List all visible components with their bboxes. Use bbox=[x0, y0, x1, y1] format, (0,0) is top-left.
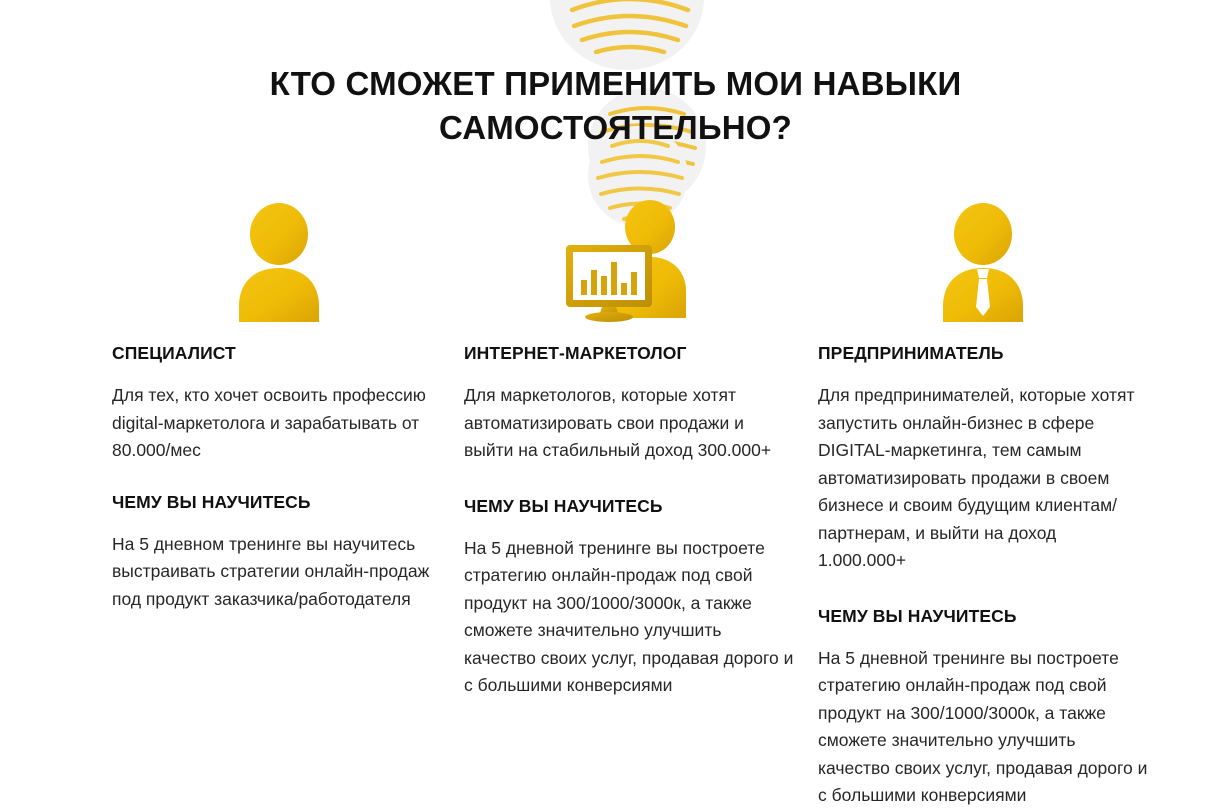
audience-icon-wrap bbox=[112, 196, 442, 324]
audience-title: СПЕЦИАЛИСТ bbox=[112, 342, 442, 364]
audience-icon-wrap bbox=[818, 196, 1148, 324]
page-title: КТО СМОЖЕТ ПРИМЕНИТЬ МОИ НАВЫКИ САМОСТОЯ… bbox=[0, 62, 1231, 150]
audience-card-internet-marketer: ИНТЕРНЕТ-МАРКЕТОЛОГ Для маркетологов, ко… bbox=[464, 196, 794, 700]
audience-subtitle: ЧЕМУ ВЫ НАУЧИТЕСЬ bbox=[818, 605, 1148, 627]
audience-subtitle: ЧЕМУ ВЫ НАУЧИТЕСЬ bbox=[464, 495, 794, 517]
audience-description: Для тех, кто хочет освоить профессию dig… bbox=[112, 382, 442, 465]
audience-subtitle: ЧЕМУ ВЫ НАУЧИТЕСЬ bbox=[112, 491, 442, 513]
audience-title: ПРЕДПРИНИМАТЕЛЬ bbox=[818, 342, 1148, 364]
audience-description: Для предпринимателей, которые хотят запу… bbox=[818, 382, 1148, 575]
tie-knot bbox=[977, 269, 989, 278]
page-title-line-1: КТО СМОЖЕТ ПРИМЕНИТЬ МОИ НАВЫКИ bbox=[0, 62, 1231, 106]
audience-sub-description: На 5 дневной тренинге вы построете страт… bbox=[818, 645, 1148, 810]
person-icon bbox=[234, 196, 324, 324]
audience-sub-description: На 5 дневном тренинге вы научитесь выстр… bbox=[112, 531, 442, 614]
audience-card-specialist: СПЕЦИАЛИСТ Для тех, кто хочет освоить пр… bbox=[112, 196, 442, 613]
person-with-monitor-chart-icon bbox=[552, 196, 702, 324]
audience-card-entrepreneur: ПРЕДПРИНИМАТЕЛЬ Для предпринимателей, ко… bbox=[818, 196, 1148, 810]
audience-title: ИНТЕРНЕТ-МАРКЕТОЛОГ bbox=[464, 342, 794, 364]
page-title-line-2: САМОСТОЯТЕЛЬНО? bbox=[0, 106, 1231, 150]
audience-description: Для маркетологов, которые хотят автомати… bbox=[464, 382, 794, 465]
audience-sub-description: На 5 дневной тренинге вы построете страт… bbox=[464, 535, 794, 700]
businessman-with-tie-icon bbox=[938, 196, 1028, 324]
audience-icon-wrap bbox=[464, 196, 794, 324]
